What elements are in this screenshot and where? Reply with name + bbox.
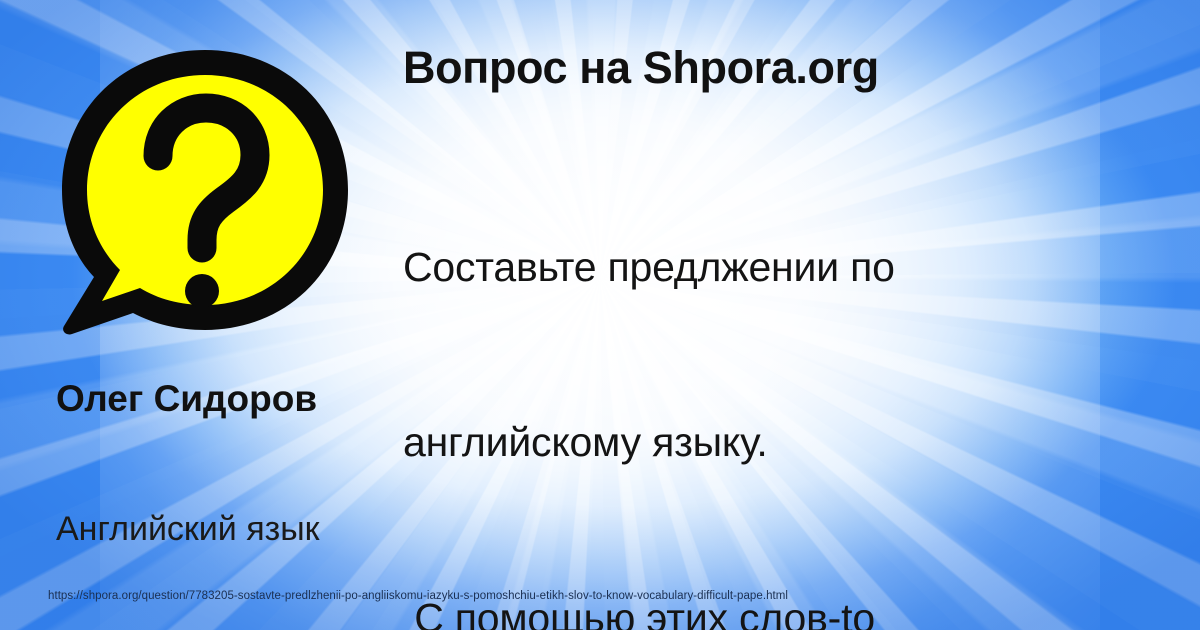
question-mark-dot (185, 274, 219, 308)
question-line: английскому языку. (403, 413, 1200, 472)
source-url[interactable]: https://shpora.org/question/7783205-sost… (48, 590, 1178, 602)
question-speech-bubble-icon (50, 44, 355, 344)
question-text: Составьте предлжении по английскому язык… (403, 120, 1200, 630)
question-speech-bubble-svg (50, 44, 355, 344)
page-title: Вопрос на Shpora.org (403, 44, 1200, 91)
author-name: Олег Сидоров (56, 378, 396, 421)
card-content: Вопрос на Shpora.org Составьте предлжени… (0, 0, 1200, 630)
share-card: Вопрос на Shpora.org Составьте предлжени… (0, 0, 1200, 630)
question-line: Составьте предлжении по (403, 238, 1200, 297)
subject-label: Английский язык (56, 509, 526, 550)
